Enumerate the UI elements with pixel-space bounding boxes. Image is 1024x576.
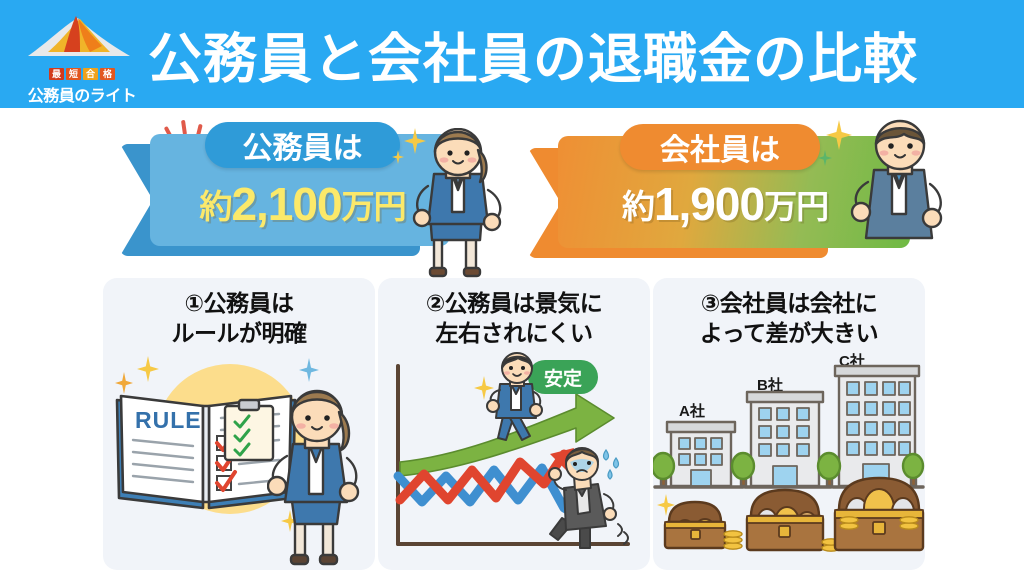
male-office-worker-illustration [848, 118, 968, 278]
comparison-banner-area: 約2,100万円 公務員は [0, 108, 1024, 278]
card-rule-title-line2: ルールが明確 [103, 318, 375, 348]
svg-text:RULE: RULE [135, 407, 202, 433]
kaishain-pill-label: 会社員は [620, 124, 820, 170]
infographic-root: 最 短 合 格 公務員のライト 公務員と会社員の退職金の比較 約2,100万円 … [0, 0, 1024, 576]
card-rule-woman-illustration [267, 372, 369, 568]
koumuin-pill-label: 公務員は [205, 122, 400, 168]
page-title: 公務員と会社員の退職金の比較 [148, 15, 918, 94]
card-company-gap-title-line1: ③会社員は会社に [653, 288, 925, 318]
card-company-gap-title: ③会社員は会社に よって差が大きい [653, 288, 925, 348]
reason-cards: ①公務員は ルールが明確 RULE [0, 272, 1024, 576]
female-office-worker-illustration [408, 128, 528, 278]
kaishain-amount-value: 1,900 [654, 177, 764, 231]
card-rule[interactable]: ①公務員は ルールが明確 RULE [103, 278, 375, 570]
happy-man-walking-illustration [484, 350, 550, 446]
buildings-and-chests-graphic [653, 350, 925, 570]
kaishain-amount-unit: 万円 [764, 180, 828, 228]
logo-chip-row: 最 短 合 格 [18, 68, 146, 80]
card-stability-title-line2: 左右されにくい [378, 318, 650, 348]
card-stability-title: ②公務員は景気に 左右されにくい [378, 288, 650, 348]
card-company-gap[interactable]: ③会社員は会社に よって差が大きい A社 B社 C社 [653, 278, 925, 570]
logo-chip-4: 格 [100, 68, 115, 80]
kaishain-amount-prefix: 約 [622, 180, 654, 228]
mountain-swoosh-icon [18, 12, 138, 62]
card-company-gap-title-line2: よって差が大きい [653, 318, 925, 348]
companies-and-chests-illustration: A社 B社 C社 [653, 350, 925, 570]
koumuin-amount-unit: 万円 [342, 180, 406, 228]
logo-brand-name: 公務員のライト [18, 82, 146, 106]
card-stability[interactable]: ②公務員は景気に 左右されにくい [378, 278, 650, 570]
koumuin-amount-value: 2,100 [231, 177, 341, 231]
logo-chip-1: 最 [49, 68, 64, 80]
logo-chip-3: 合 [83, 68, 98, 80]
falling-man-illustration [544, 442, 636, 558]
koumuin-amount-prefix: 約 [199, 180, 231, 228]
koumuin-amount: 約2,100万円 [155, 174, 450, 234]
rule-book-and-woman-illustration: RULE [103, 350, 375, 570]
kaishain-amount: 約1,900万円 [560, 174, 890, 234]
stability-graph-illustration: 安定 [378, 350, 650, 570]
logo-chip-2: 短 [66, 68, 81, 80]
card-rule-title-line1: ①公務員は [103, 288, 375, 318]
brand-logo: 最 短 合 格 公務員のライト [18, 12, 146, 100]
confetti-dash-2 [181, 120, 187, 135]
page-header: 最 短 合 格 公務員のライト 公務員と会社員の退職金の比較 [0, 0, 1024, 108]
card-stability-title-line1: ②公務員は景気に [378, 288, 650, 318]
card-rule-title: ①公務員は ルールが明確 [103, 288, 375, 348]
